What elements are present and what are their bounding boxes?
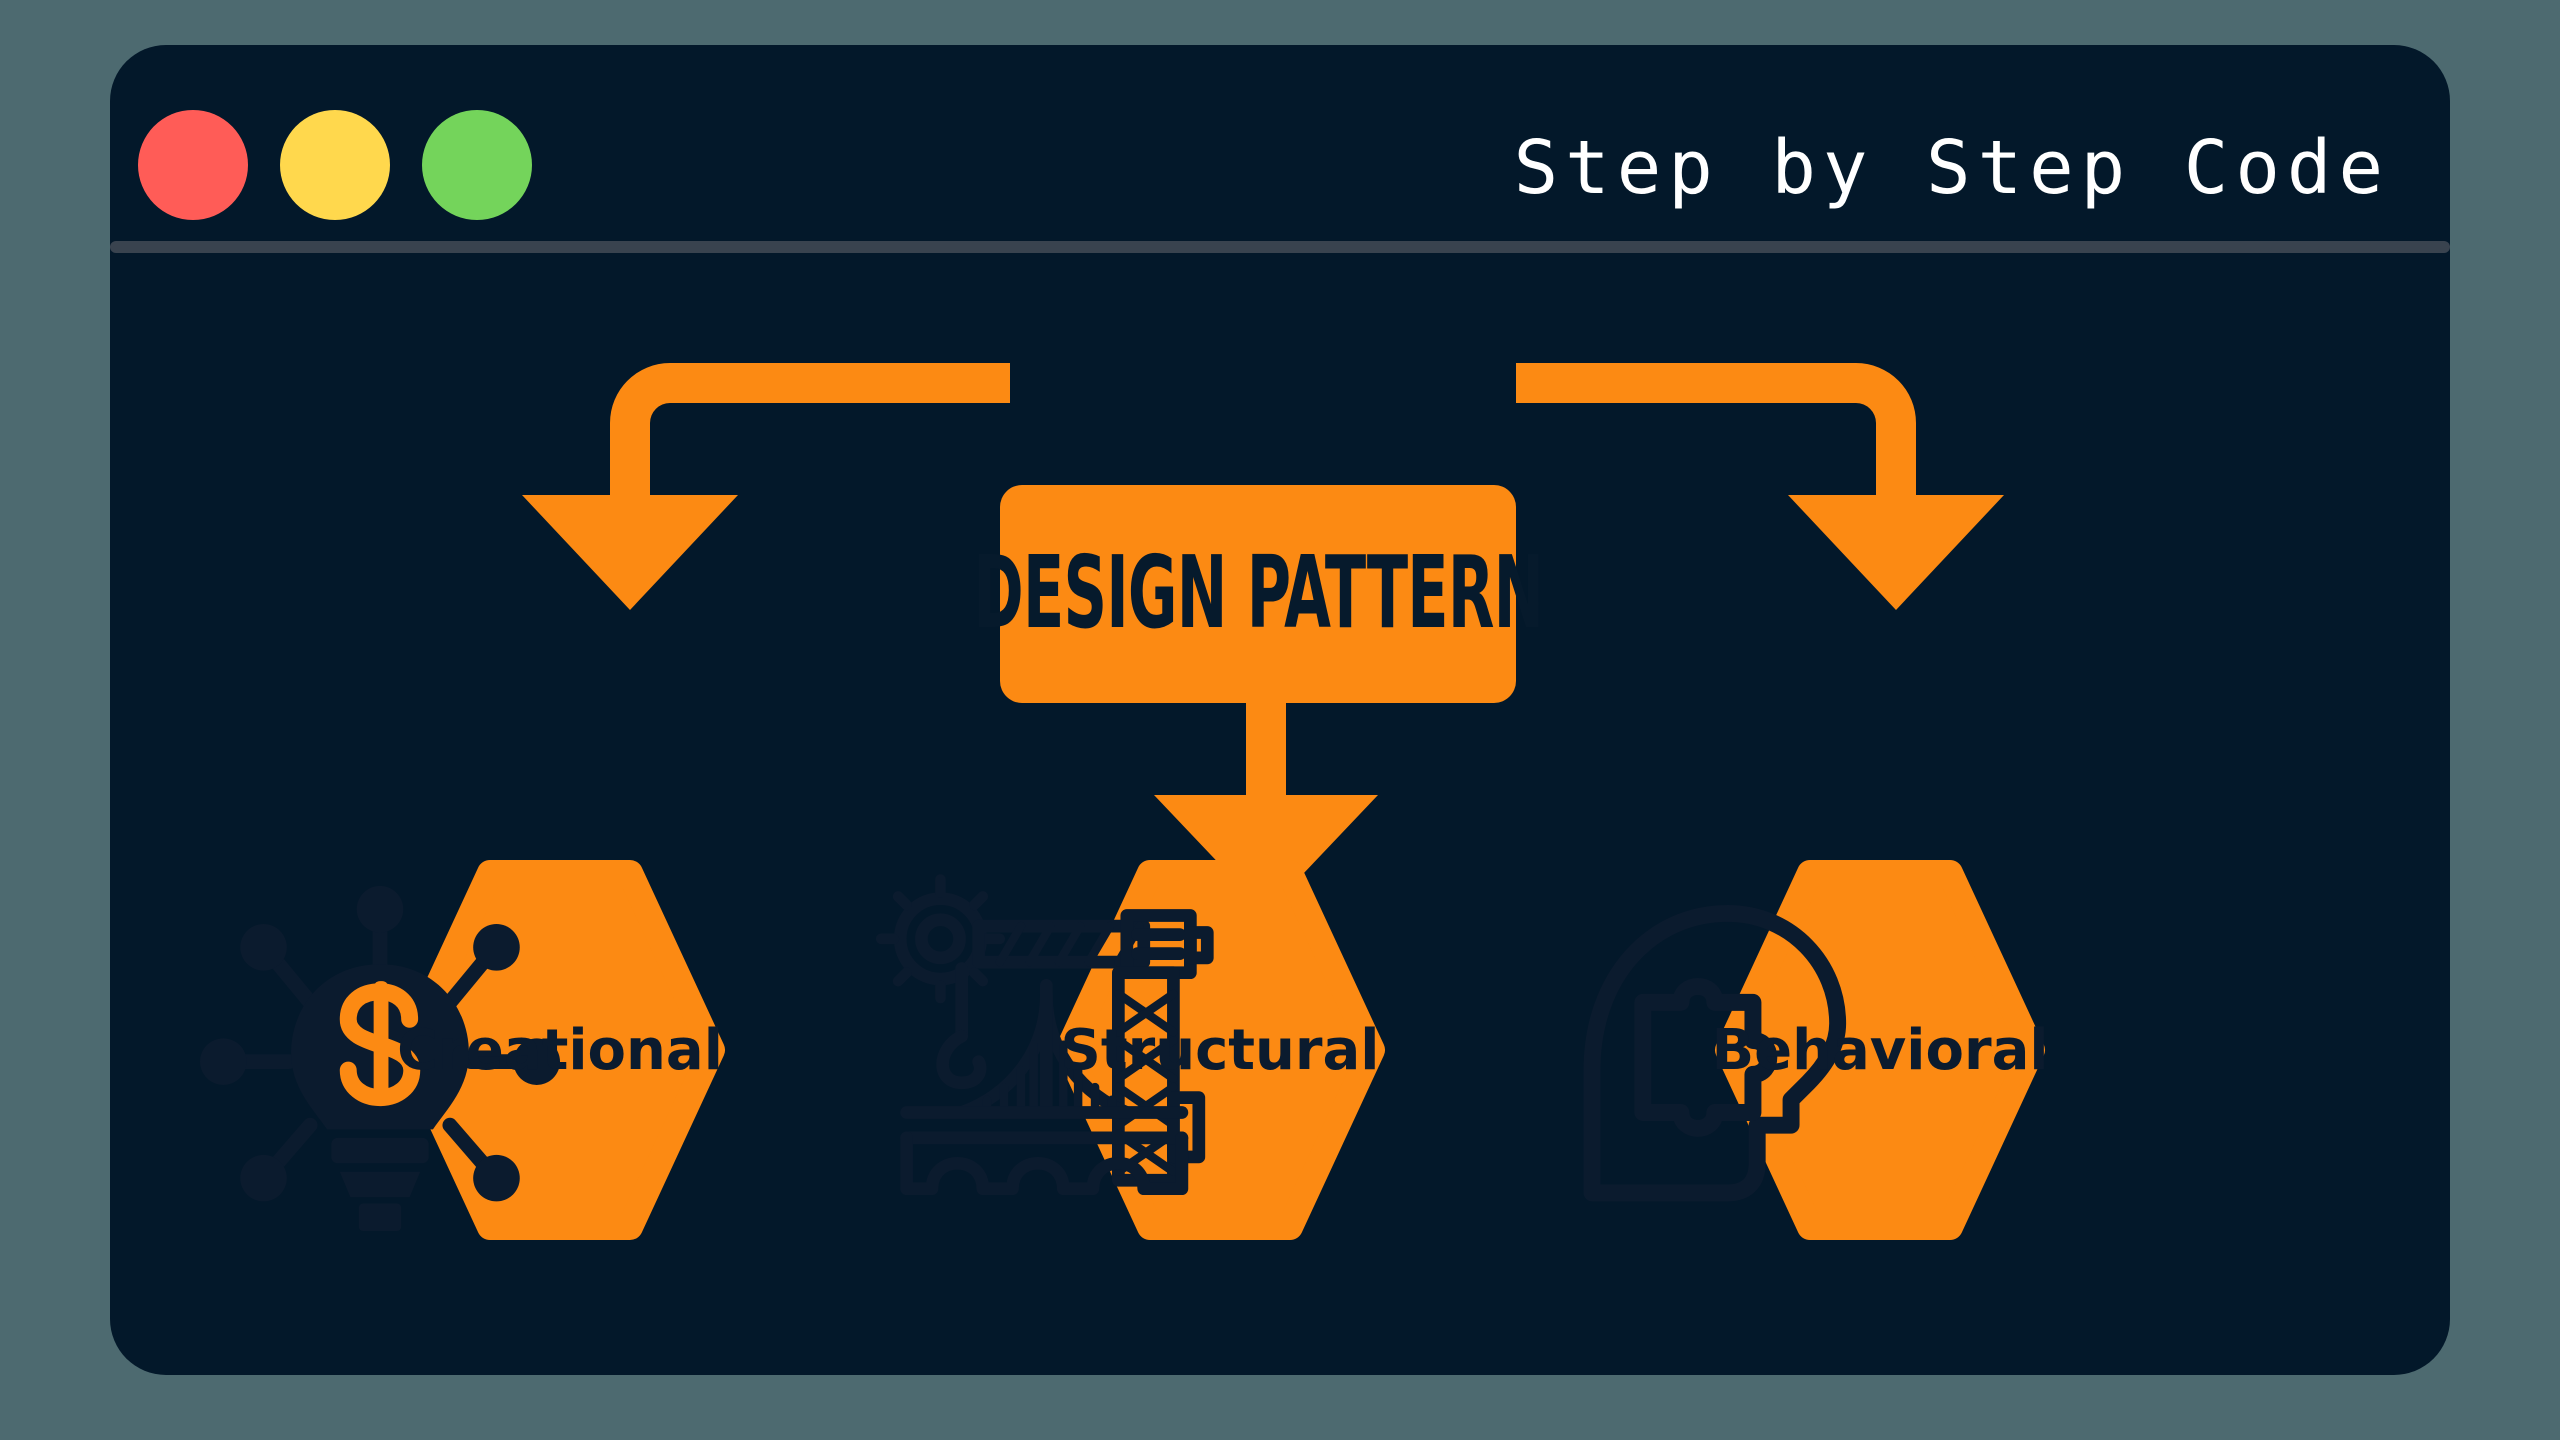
app-window: Step by Step Code: [110, 45, 2450, 1375]
root-node-label: DESIGN PATTERN: [973, 544, 1543, 644]
node-creational[interactable]: Creational: [380, 845, 740, 1255]
root-node-design-pattern[interactable]: DESIGN PATTERN: [1000, 485, 1516, 703]
diagram-canvas: DESIGN PATTERN: [110, 45, 2450, 1375]
node-behavioral[interactable]: Behavioral: [1700, 845, 2060, 1255]
hexagon-shape-behavioral: [1700, 845, 2060, 1255]
hexagon-shape-creational: [380, 845, 740, 1255]
hexagon-shape-structural: [1040, 845, 1400, 1255]
screenshot-stage: Step by Step Code: [0, 0, 2560, 1440]
node-structural[interactable]: Structural: [1040, 845, 1400, 1255]
